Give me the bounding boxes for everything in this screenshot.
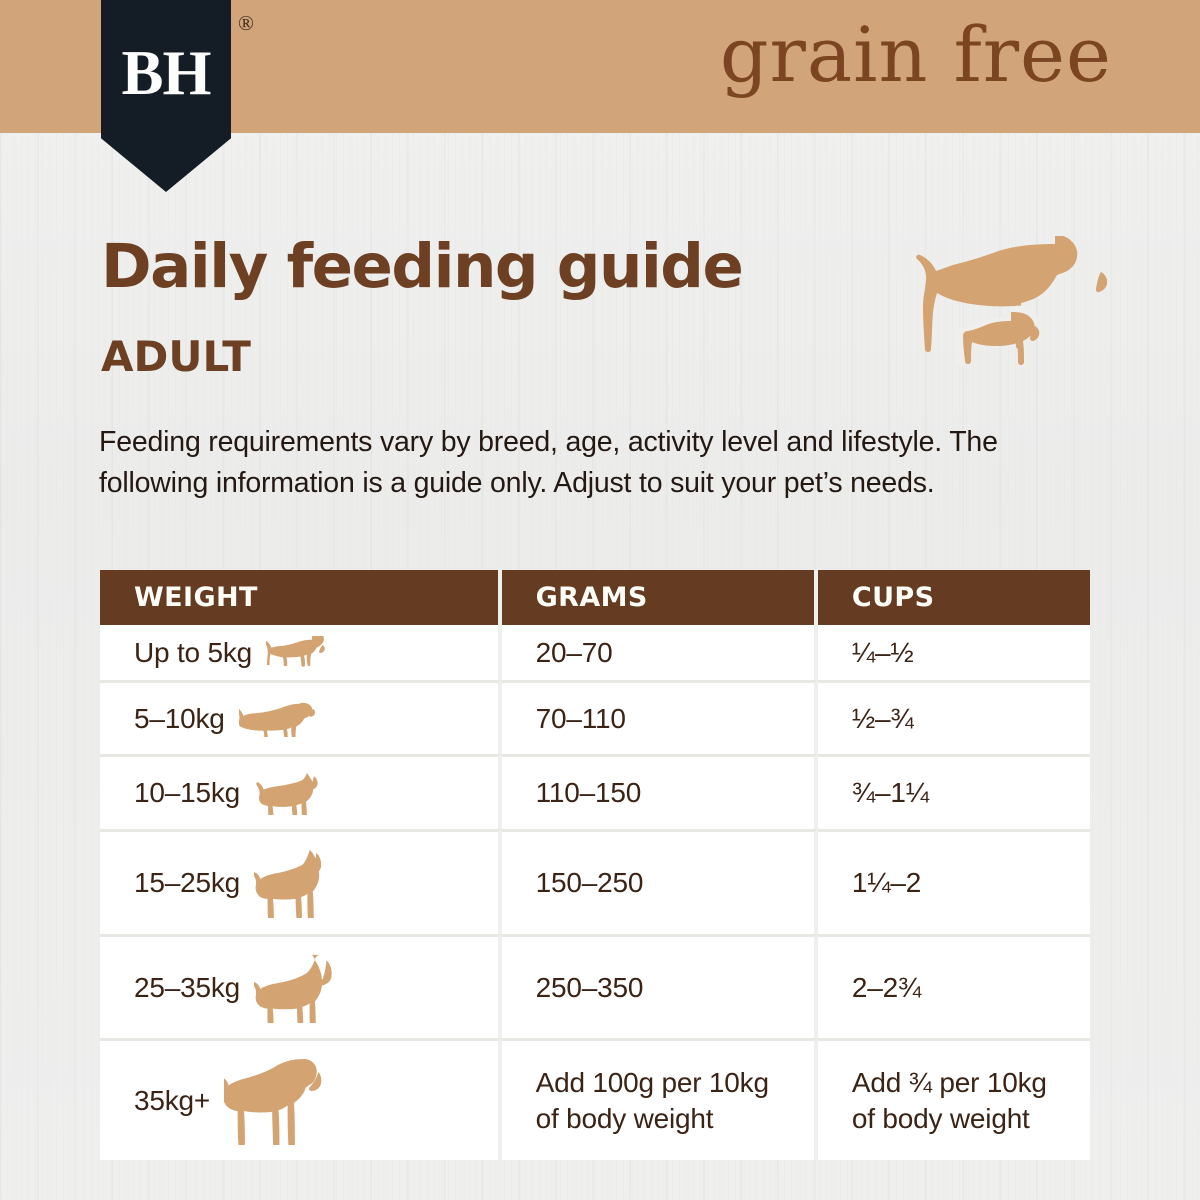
cups-line-1: Add ¾ per 10kg — [852, 1067, 1047, 1098]
table-row: 5–10kg 70–110 ½–¾ — [100, 680, 1090, 754]
weight-cell: Up to 5kg — [100, 625, 502, 680]
column-header-grams: GRAMS — [502, 570, 818, 625]
cups-cell: ¾–1¼ — [818, 754, 1090, 829]
giant-dog-icon — [210, 1057, 498, 1145]
dachshund-icon — [225, 700, 498, 737]
column-header-cups: CUPS — [818, 570, 1090, 625]
weight-cell: 25–35kg — [100, 934, 502, 1038]
grain-free-wordmark: grain free — [720, 17, 1112, 93]
weight-label: 25–35kg — [134, 972, 240, 1004]
registered-trademark-icon: ® — [238, 13, 254, 34]
medium-dog-icon — [240, 849, 498, 918]
table-header-row: WEIGHT GRAMS CUPS — [100, 570, 1090, 625]
small-dog-icon — [252, 636, 498, 670]
weight-label: Up to 5kg — [134, 637, 252, 669]
table-row: 15–25kg 150–250 1¼–2 — [100, 829, 1090, 934]
cups-cell: ½–¾ — [818, 680, 1090, 754]
table-row: 25–35kg 250–350 2–2¾ — [100, 934, 1090, 1038]
page-title: Daily feeding guide — [101, 236, 742, 297]
grams-cell: 150–250 — [502, 829, 818, 934]
large-dog-icon — [240, 953, 498, 1023]
grams-cell: 110–150 — [502, 754, 818, 829]
weight-label: 15–25kg — [134, 867, 240, 899]
cups-cell: ¼–½ — [818, 625, 1090, 680]
grams-cell: 70–110 — [502, 680, 818, 754]
table-body: Up to 5kg 20–70 ¼–½ 5–10kg — [100, 625, 1090, 1160]
terrier-icon — [240, 771, 498, 815]
column-header-weight: WEIGHT — [100, 570, 502, 625]
table-row: 35kg+ Add 100g per 10kg of body weight A… — [100, 1038, 1090, 1160]
weight-cell: 15–25kg — [100, 829, 502, 934]
brand-logo-text: BH — [121, 42, 210, 105]
cups-cell: Add ¾ per 10kg of body weight — [818, 1038, 1090, 1160]
intro-paragraph: Feeding requirements vary by breed, age,… — [99, 422, 1029, 504]
table-header: WEIGHT GRAMS CUPS — [100, 570, 1090, 625]
weight-cell: 10–15kg — [100, 754, 502, 829]
weight-label: 10–15kg — [134, 777, 240, 809]
table-row: Up to 5kg 20–70 ¼–½ — [100, 625, 1090, 680]
cups-line-2: of body weight — [852, 1103, 1030, 1134]
weight-label: 35kg+ — [134, 1085, 210, 1117]
weight-cell: 5–10kg — [100, 680, 502, 754]
grams-cell: 250–350 — [502, 934, 818, 1038]
grams-cell: Add 100g per 10kg of body weight — [502, 1038, 818, 1160]
grams-line-2: of body weight — [536, 1103, 714, 1134]
life-stage-subtitle: ADULT — [101, 336, 251, 378]
cups-cell: 1¼–2 — [818, 829, 1090, 934]
adult-dog-and-puppy-icon — [905, 236, 1110, 391]
feeding-guide-table: WEIGHT GRAMS CUPS Up to 5kg 20–70 ¼–½ — [100, 570, 1090, 1160]
table-row: 10–15kg 110–150 ¾–1¼ — [100, 754, 1090, 829]
weight-label: 5–10kg — [134, 703, 225, 735]
weight-cell: 35kg+ — [100, 1038, 502, 1160]
cups-cell: 2–2¾ — [818, 934, 1090, 1038]
grams-cell: 20–70 — [502, 625, 818, 680]
grams-line-1: Add 100g per 10kg — [536, 1067, 769, 1098]
